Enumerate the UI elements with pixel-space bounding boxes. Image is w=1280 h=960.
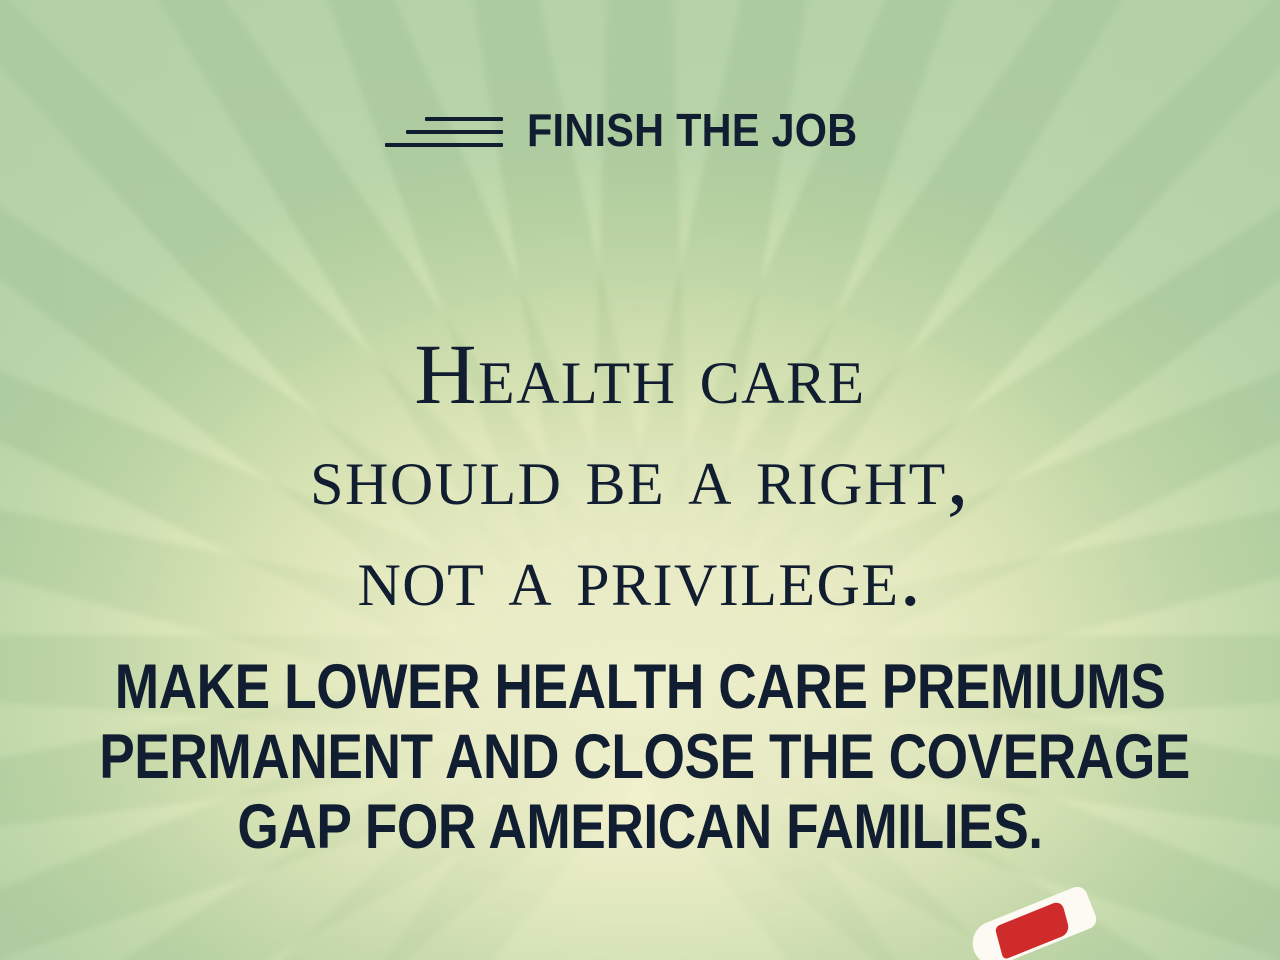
headline-line-1: Health care (0, 324, 1280, 425)
subheadline-line-1: MAKE LOWER HEALTH CARE PREMIUMS (99, 652, 1181, 722)
megaphone-body (966, 884, 1099, 960)
speed-lines-icon (385, 113, 503, 147)
finish-the-job-logo: FINISH THE JOB (0, 107, 1280, 153)
subheadline: MAKE LOWER HEALTH CARE PREMIUMS PERMANEN… (0, 652, 1280, 862)
poster-canvas: FINISH THE JOB Health care should be a r… (0, 0, 1280, 960)
megaphone-icon (966, 884, 1105, 960)
logo-wordmark: FINISH THE JOB (527, 107, 857, 153)
headline-line-2: should be a right, (0, 425, 1280, 526)
headline-line-3: not a privilege. (0, 526, 1280, 627)
subheadline-line-3: GAP FOR AMERICAN FAMILIES. (99, 792, 1181, 862)
poster-content: FINISH THE JOB Health care should be a r… (0, 0, 1280, 960)
subheadline-line-2: PERMANENT AND CLOSE THE COVERAGE (99, 722, 1181, 792)
megaphone-bell (995, 900, 1071, 960)
headline: Health care should be a right, not a pri… (0, 324, 1280, 627)
